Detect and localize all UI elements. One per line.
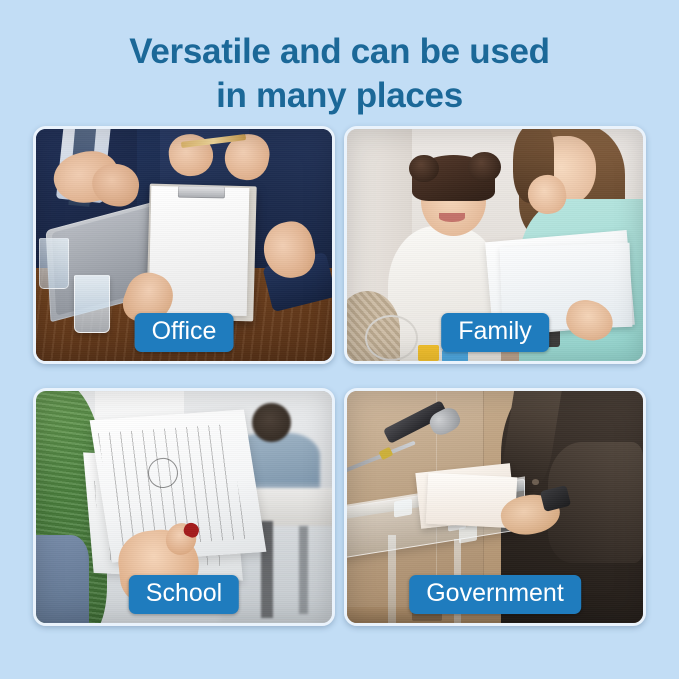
tile-label-school: School	[129, 575, 239, 614]
tile-label-family: Family	[441, 313, 549, 352]
use-case-tile-family[interactable]: Family	[344, 126, 646, 364]
use-case-tile-school[interactable]: School	[33, 388, 335, 626]
use-case-grid: Office	[33, 126, 646, 626]
page-title-line-1: Versatile and can be used	[0, 30, 679, 74]
use-case-tile-government[interactable]: Government	[344, 388, 646, 626]
page-title: Versatile and can be used in many places	[0, 30, 679, 118]
use-case-tile-office[interactable]: Office	[33, 126, 335, 364]
tile-label-office: Office	[135, 313, 234, 352]
page-title-line-2: in many places	[0, 74, 679, 118]
tile-label-government: Government	[409, 575, 581, 614]
